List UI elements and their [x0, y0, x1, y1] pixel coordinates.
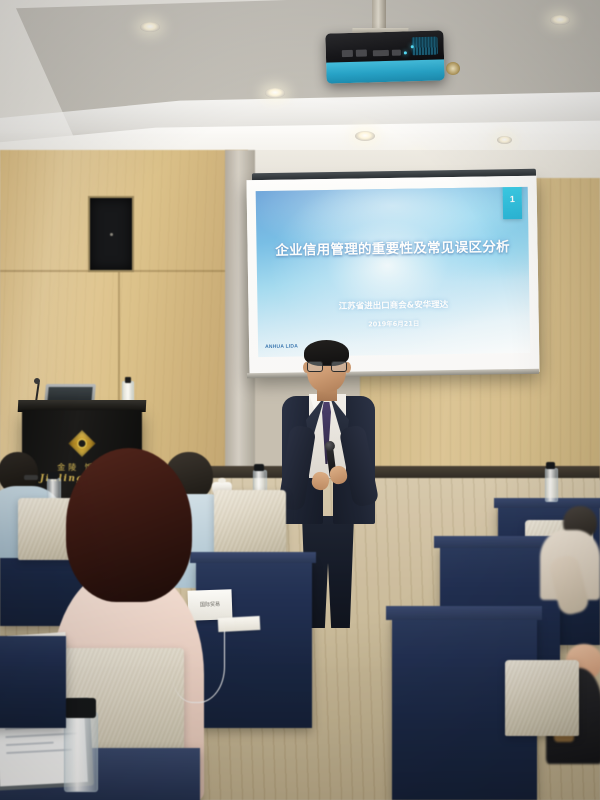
- slide-title: 企业信用管理的重要性及常见误区分析: [256, 235, 528, 259]
- projector-vent: [411, 37, 437, 56]
- ceiling-projector: [325, 30, 444, 83]
- laptop-text-line: [6, 749, 72, 754]
- earphone-cable: [172, 630, 225, 703]
- laptop-text-line: [6, 742, 54, 747]
- ceiling-downlight: [140, 22, 160, 32]
- water-bottle: [545, 468, 558, 502]
- projector-lens: [446, 62, 460, 75]
- foreground-attendee-hair: [66, 448, 192, 602]
- foreground-water-bottle: [64, 712, 98, 792]
- ceiling-downlight: [355, 131, 375, 141]
- water-bottle-cap: [546, 462, 555, 469]
- ceiling-downlight: [497, 136, 512, 144]
- attendee-table: [0, 636, 66, 728]
- foreground-water-bottle-cap: [64, 698, 96, 718]
- ceiling-downlight: [265, 88, 285, 98]
- eyeglass-lens-left: [307, 361, 323, 372]
- wall-speaker-icon: [88, 196, 134, 272]
- projector-body-bottom: [326, 59, 445, 83]
- attendee-chair: [214, 490, 286, 556]
- attendee-name-card: 国际贸易: [187, 589, 232, 621]
- eyeglass-bridge: [322, 365, 331, 366]
- projector-port: [373, 50, 389, 56]
- podium-microphone-icon: [34, 378, 40, 384]
- projector-port: [356, 50, 367, 57]
- water-bottle-cap: [254, 464, 264, 471]
- attendee-chair: [505, 660, 579, 736]
- projector-status-led-icon: [411, 45, 414, 48]
- eyeglass-lens-right: [331, 361, 347, 372]
- slide-page-number-badge: 1: [502, 187, 522, 219]
- name-card-text: 国际贸易: [200, 601, 220, 608]
- ceiling-recess-panel: [16, 0, 600, 142]
- projector-port: [342, 50, 353, 57]
- water-bottle-cap: [48, 472, 58, 479]
- slide-subtitle: 江苏省进出口商会&安华理达: [257, 297, 529, 313]
- attendee-table-top: [386, 606, 542, 620]
- eyeglasses-icon: [307, 361, 346, 370]
- hotel-emblem-icon: [69, 430, 96, 457]
- attendee-eyeglasses-icon: [24, 475, 38, 480]
- projector-port: [392, 50, 401, 56]
- conference-room-photo: 企业信用管理的重要性及常见误区分析 江苏省进出口商会&安华理达 2019年6月2…: [0, 0, 600, 800]
- ceiling-downlight: [550, 15, 570, 25]
- slide-date: 2019年6月21日: [258, 316, 530, 330]
- projector-power-led-icon: [404, 51, 407, 54]
- attendee-table-top: [190, 552, 316, 563]
